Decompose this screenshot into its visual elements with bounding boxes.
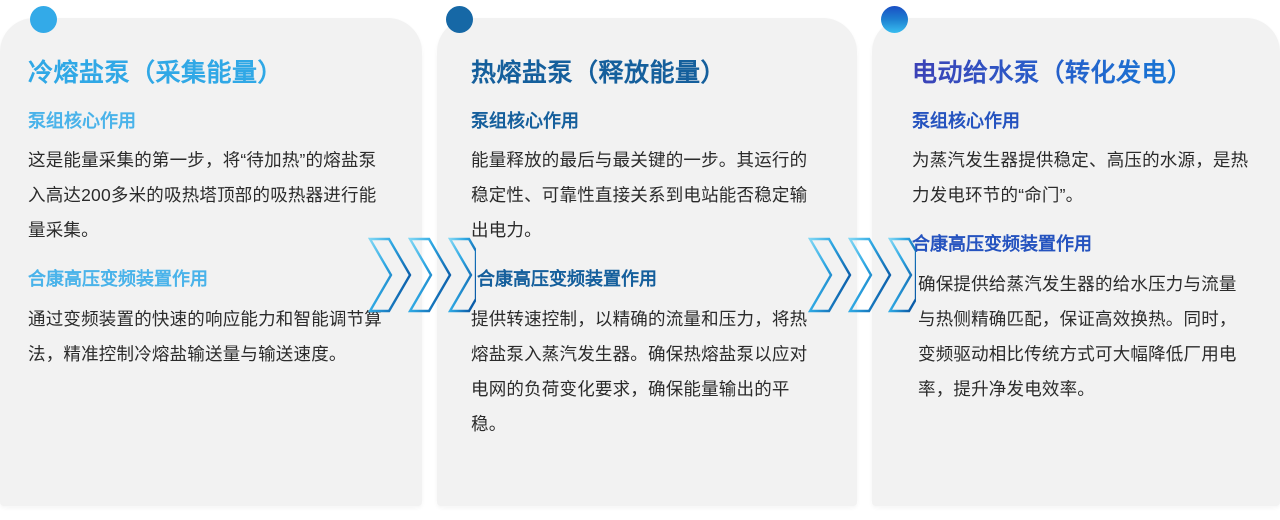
card-2-title: 热熔盐泵（释放能量） xyxy=(471,58,821,88)
card-1-section-divider xyxy=(28,248,382,268)
card-3-title: 电动给水泵（转化发电） xyxy=(912,58,1193,88)
card-2-section-2-body: 提供转速控制，以精确的流量和压力，将热熔盐泵入蒸汽发生器。确保热熔盐泵以应对电网… xyxy=(471,302,821,442)
card-1-section-2-body: 通过变频装置的快速的响应能力和智能调节算法，精准控制冷熔盐输送量与输送速度。 xyxy=(28,302,382,372)
card-2-content: 热熔盐泵（释放能量） 泵组核心作用 能量释放的最后与最关键的一步。其运行的稳定性… xyxy=(437,18,857,442)
card-3-section-2-heading: 合康高压变频装置作用 xyxy=(912,233,1252,256)
card-1-section-1-body: 这是能量采集的第一步，将“待加热”的熔盐泵入高达200多米的吸热塔顶部的吸热器进… xyxy=(28,143,382,248)
card-2-section-1-body: 能量释放的最后与最关键的一步。其运行的稳定性、可靠性直接关系到电站能否稳定输出电… xyxy=(471,143,821,248)
card-1-section-1-heading: 泵组核心作用 xyxy=(28,110,382,133)
process-flow-board: 冷熔盐泵（采集能量） 泵组核心作用 这是能量采集的第一步，将“待加热”的熔盐泵入… xyxy=(0,0,1280,520)
process-card-2[interactable]: 热熔盐泵（释放能量） 泵组核心作用 能量释放的最后与最关键的一步。其运行的稳定性… xyxy=(437,18,857,506)
card-2-section-1-heading: 泵组核心作用 xyxy=(471,110,821,133)
card-2-section-2-heading: 合康高压变频装置作用 xyxy=(471,268,821,291)
card-1-title: 冷熔盐泵（采集能量） xyxy=(28,58,382,88)
card-3-section-1-body: 为蒸汽发生器提供稳定、高压的水源，是热力发电环节的“命门”。 xyxy=(912,143,1252,213)
process-card-1[interactable]: 冷熔盐泵（采集能量） 泵组核心作用 这是能量采集的第一步，将“待加热”的熔盐泵入… xyxy=(0,18,422,506)
card-1-content: 冷熔盐泵（采集能量） 泵组核心作用 这是能量采集的第一步，将“待加热”的熔盐泵入… xyxy=(0,18,422,372)
card-3-content: 电动给水泵（转化发电） 泵组核心作用 为蒸汽发生器提供稳定、高压的水源，是热力发… xyxy=(872,18,1280,407)
card-3-section-1-heading: 泵组核心作用 xyxy=(912,110,1252,133)
card-1-section-2-heading: 合康高压变频装置作用 xyxy=(28,268,382,291)
card-2-section-divider xyxy=(471,248,821,268)
card-3-section-2-body: 确保提供给蒸汽发生器的给水压力与流量与热侧精确匹配，保证高效换热。同时，变频驱动… xyxy=(912,267,1252,407)
process-card-3[interactable]: 电动给水泵（转化发电） 泵组核心作用 为蒸汽发生器提供稳定、高压的水源，是热力发… xyxy=(872,18,1280,506)
card-3-section-divider xyxy=(912,213,1252,233)
